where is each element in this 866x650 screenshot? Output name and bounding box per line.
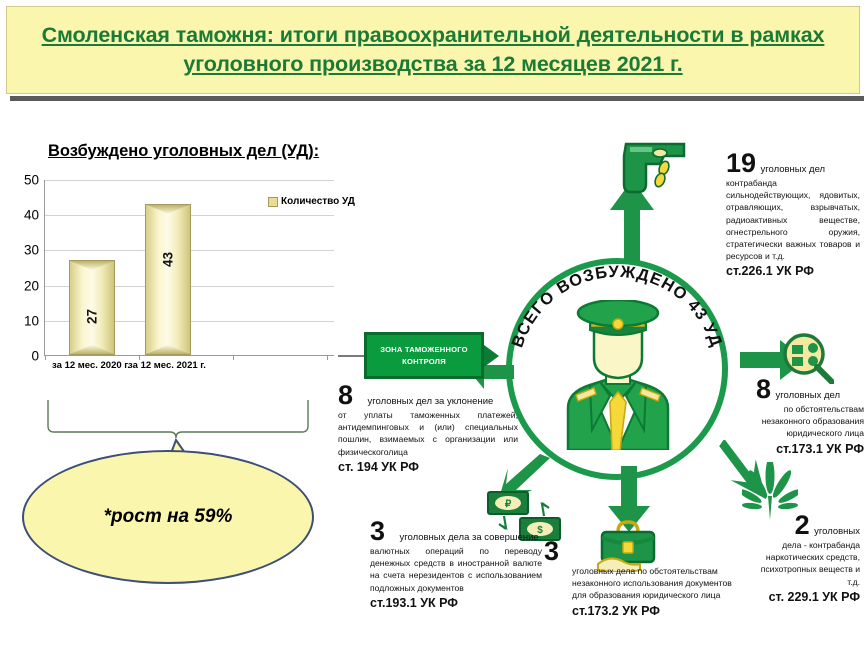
legend-swatch-icon xyxy=(268,197,278,207)
block-body: дела - контрабанда наркотических средств… xyxy=(748,539,860,588)
chart-title: Возбуждено уголовных дел (УД): xyxy=(48,142,319,161)
pistol-icon xyxy=(620,138,698,194)
block-contraband-weapons: 19 уголовных дел контрабанда сильнодейст… xyxy=(726,150,860,278)
block-unit: уголовных дел за уклонение xyxy=(367,396,493,407)
y-axis-tick: 50 xyxy=(24,173,39,188)
block-illegal-legal-entity: 8 уголовных дел по обстоятельствам незак… xyxy=(756,376,864,456)
block-law: ст.193.1 УК РФ xyxy=(370,596,542,610)
bar-value-label: 27 xyxy=(85,309,100,324)
chart-brace xyxy=(46,400,310,442)
block-law: ст.173.1 УК РФ xyxy=(756,442,864,456)
growth-bubble-text: *рост на 59% xyxy=(104,506,233,528)
customs-zone-line1: ЗОНА ТАМОЖЕННОГО xyxy=(380,345,468,354)
block-count: 19 xyxy=(726,148,756,178)
gridline xyxy=(45,180,334,181)
y-axis-tick: 30 xyxy=(24,243,39,258)
x-axis xyxy=(45,355,334,356)
block-body: валютных операций по переводу денежных с… xyxy=(370,545,542,594)
block-law: ст.173.2 УК РФ xyxy=(572,604,738,618)
legend-label: Количество УД xyxy=(281,196,355,207)
block-customs-duty-evasion: 8 уголовных дел за уклонение от уплаты т… xyxy=(338,382,518,474)
bar-2020: 27 xyxy=(69,260,115,355)
block-drug-contraband: 2 уголовных дела - контрабанда наркотиче… xyxy=(748,512,860,604)
block-unit: уголовных дел xyxy=(761,164,826,175)
block-unit: уголовных дела за совершение xyxy=(399,532,538,543)
bar-value-label: 43 xyxy=(161,252,176,267)
block-body: контрабанда сильнодействующих, ядовитых,… xyxy=(726,177,860,262)
chart-legend: Количество УД xyxy=(268,196,355,207)
y-axis-tick: 10 xyxy=(24,313,39,328)
customs-officer-icon xyxy=(560,300,676,450)
block-count: 8 xyxy=(756,374,771,404)
block-law: ст. 229.1 УК РФ xyxy=(748,590,860,604)
block-body: по обстоятельствам незаконного образован… xyxy=(756,403,864,440)
header-shadow xyxy=(10,96,864,101)
customs-zone-connector xyxy=(338,355,366,357)
customs-zone-arrow xyxy=(484,345,499,367)
page-title: Смоленская таможня: итоги правоохранител… xyxy=(7,21,859,79)
block-count: 3 xyxy=(544,536,559,566)
block-unit: уголовных дел xyxy=(775,390,840,401)
y-axis-tick: 0 xyxy=(31,349,39,364)
block-body: от уплаты таможенных платежей, антидемпи… xyxy=(338,409,518,458)
page-header: Смоленская таможня: итоги правоохранител… xyxy=(6,6,860,94)
block-law: ст. 194 УК РФ xyxy=(338,460,518,474)
block-currency-operations: 3 уголовных дела за совершение валютных … xyxy=(370,518,542,610)
y-axis-tick: 20 xyxy=(24,278,39,293)
block-count: 3 xyxy=(370,516,385,546)
x-axis-tick-2021: за 12 мес. 2021 г. xyxy=(121,360,213,373)
block-body: уголовных дела по обстоятельствам незако… xyxy=(572,565,738,602)
customs-zone-line2: КОНТРОЛЯ xyxy=(402,357,446,366)
bar-2021: 43 xyxy=(145,204,191,355)
svg-text:₽: ₽ xyxy=(505,499,512,510)
growth-bubble: *рост на 59% xyxy=(22,450,314,584)
block-unit: уголовных xyxy=(814,526,860,537)
customs-zone-sign-icon: ЗОНА ТАМОЖЕННОГО КОНТРОЛЯ xyxy=(364,332,484,379)
block-forged-documents: 3 уголовных дела по обстоятельствам неза… xyxy=(572,538,738,618)
block-law: ст.226.1 УК РФ xyxy=(726,264,860,278)
y-axis-tick: 40 xyxy=(24,208,39,223)
block-count: 8 xyxy=(338,380,353,410)
block-count: 2 xyxy=(795,510,810,540)
